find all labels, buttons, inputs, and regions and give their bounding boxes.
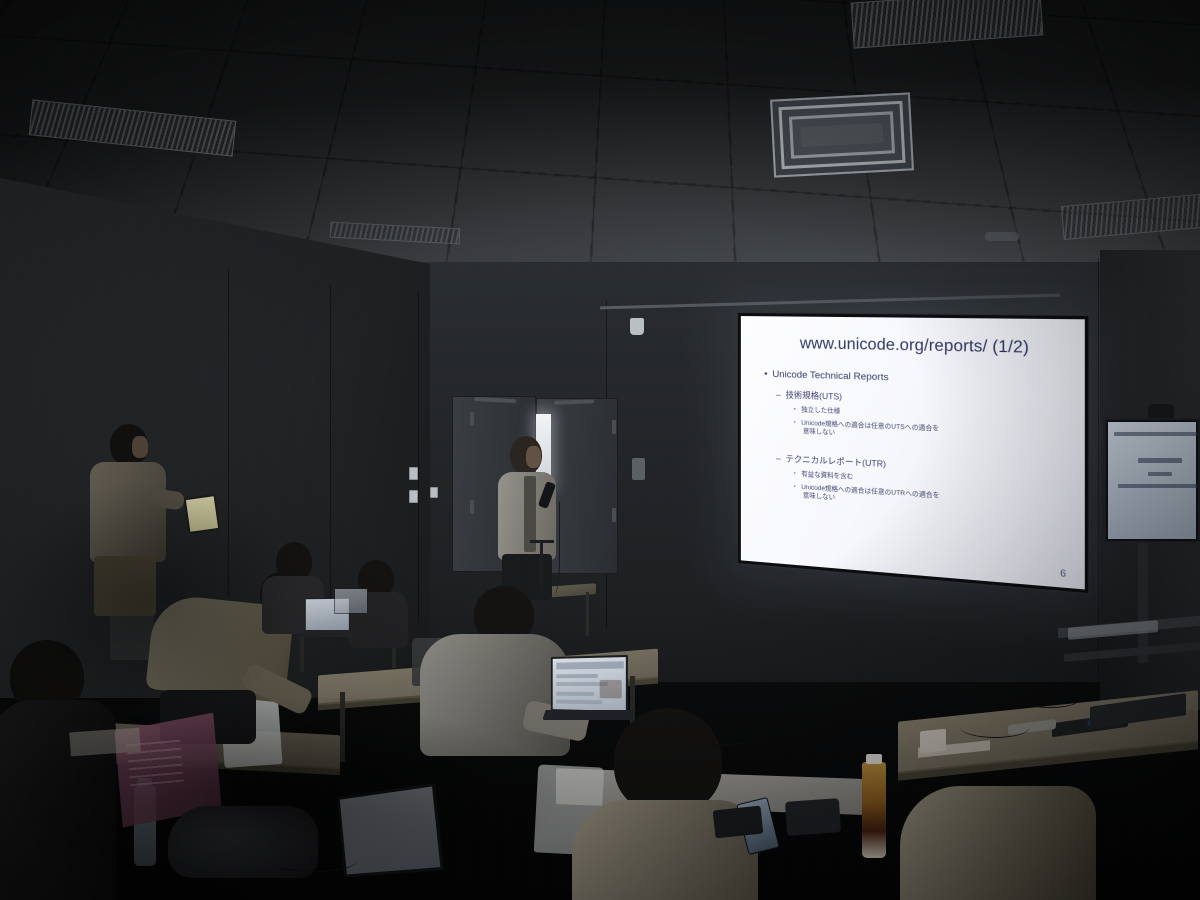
tablet-attendee-trousers [94,556,156,616]
laptop-center-image [600,680,622,699]
display-text-line-4 [1118,484,1198,488]
wall-speaker-icon [632,458,645,480]
cable-right-b [1020,690,1080,708]
paper-sheet-foreground [69,728,141,757]
door-hinge-a-icon [470,412,474,426]
ceiling-speaker-icon [985,232,1019,241]
display-text-line-2 [1138,458,1182,463]
table-center-leg-a [340,692,345,762]
tea-bottle-amber[interactable] [862,762,886,858]
laptop-center[interactable] [551,655,628,713]
display-stand-post [1138,543,1148,663]
device-case-a [713,806,764,839]
tablet-attendee-torso [90,462,166,562]
light-switch-plate-c[interactable] [430,487,438,498]
wall-seam-c [418,292,419,622]
slide-title: www.unicode.org/reports/ (1/2) [764,334,1070,358]
laptop-center-text-a [556,674,597,678]
attendee-foreground-left [0,640,122,900]
seminar-room-photo: www.unicode.org/reports/ (1/2) Unicode T… [0,0,1200,900]
door-hinge-b-icon [470,500,474,514]
tablet-device[interactable] [184,494,221,534]
projection-screen: www.unicode.org/reports/ (1/2) Unicode T… [737,312,1090,594]
laptop-center-text-c [556,692,593,696]
microphone-cable [546,502,560,594]
wall-display [1103,418,1200,543]
ac-adapter [920,729,946,754]
center-attendee-torso [420,634,570,756]
display-text-line-1 [1114,432,1198,436]
presenter-face [526,446,541,468]
display-text-line-3 [1148,472,1172,476]
tablet-attendee-face [132,436,148,458]
slide-surface: www.unicode.org/reports/ (1/2) Unicode T… [741,316,1085,589]
air-diffuser-icon [770,92,914,177]
laptop-center-text-d [556,700,601,705]
device-case-b [785,798,841,836]
light-switch-plate-a[interactable] [409,467,418,480]
cable-center-floor [640,720,770,746]
door-hinge-c-icon [612,420,616,434]
wall-seam-b [330,284,331,604]
tea-bottle-cap [866,754,882,764]
tablet-screen [186,496,218,532]
mic-stand[interactable] [540,540,543,590]
laptop-center-browser-bar [556,661,623,669]
door-hinge-d-icon [612,508,616,522]
wall-seam-a [228,268,229,598]
light-switch-plate-b[interactable] [409,490,418,503]
mic-stand-arm [530,540,554,543]
attendee-right-edge [900,768,1100,900]
laptop-left-rear-base[interactable] [299,630,355,637]
presenter-table-leg-b [586,592,589,636]
cable-right-a [960,716,1030,738]
laptop-center-base[interactable] [542,710,635,720]
laptop-far-left[interactable] [334,588,368,614]
slide-page-number: 6 [1060,568,1066,579]
cable-foreground [268,848,358,872]
slide-bullet-level1: Unicode Technical Reports [764,369,1070,389]
wall-sensor-icon [630,318,644,335]
presenter [494,436,578,596]
right-edge-torso [900,786,1096,900]
wall-seam-e [1098,258,1099,678]
wall-display-screen [1108,422,1196,539]
